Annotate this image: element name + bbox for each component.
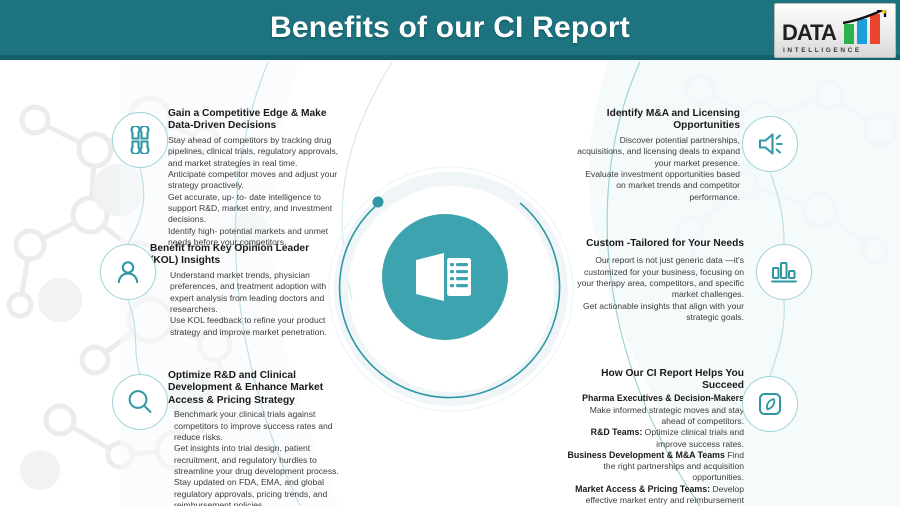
bar-chart-glyph xyxy=(769,259,799,285)
helps-item-label: R&D Teams: xyxy=(591,427,643,437)
infographic-slide: Benefits of our CI Report DATA INTELLIGE… xyxy=(0,0,900,506)
logo-subtitle: INTELLIGENCE xyxy=(783,47,862,54)
helps-item-label: Business Development & M&A Teams xyxy=(567,450,724,460)
magnifier-icon xyxy=(112,374,168,430)
user-icon xyxy=(100,244,156,300)
helps-list: Pharma Executives & Decision-Makers Make… xyxy=(566,393,744,506)
user-glyph xyxy=(114,258,142,286)
helps-item-text: Make informed strategic moves and stay a… xyxy=(590,405,744,426)
clover-grid-glyph xyxy=(126,126,154,154)
block-custom-tailored: Custom -Tailored for Your Needs Our repo… xyxy=(572,238,744,324)
block-competitive-edge: Gain a Competitive Edge & Make Data-Driv… xyxy=(168,108,340,248)
page-title: Benefits of our CI Report xyxy=(0,0,900,55)
block-body: Understand market trends, physician pref… xyxy=(150,270,338,338)
header-bar: Benefits of our CI Report xyxy=(0,0,900,60)
center-graphic xyxy=(336,175,566,405)
speaker-icon xyxy=(742,116,798,172)
block-body: Benchmark your clinical trials against c… xyxy=(168,409,340,506)
bar-chart-icon xyxy=(756,244,812,300)
block-kol-insights: Benefit from Key Opinion Leader (KOL) In… xyxy=(150,243,338,338)
report-booklet-icon xyxy=(414,251,476,303)
helps-list-item: Market Access & Pricing Teams: Develop e… xyxy=(566,484,744,506)
block-body: Discover potential partnerships, acquisi… xyxy=(576,135,740,203)
pen-square-glyph xyxy=(756,390,784,418)
block-helps-you-succeed: How Our CI Report Helps You Succeed Phar… xyxy=(566,368,744,506)
brand-logo: DATA INTELLIGENCE xyxy=(774,3,896,58)
block-title: Optimize R&D and Clinical Development & … xyxy=(168,370,340,407)
clover-grid-icon xyxy=(112,112,168,168)
center-disc xyxy=(382,214,508,340)
block-body: Stay ahead of competitors by tracking dr… xyxy=(168,135,340,248)
helps-list-item: Pharma Executives & Decision-Makers Make… xyxy=(566,393,744,427)
helps-list-item: R&D Teams: Optimize clinical trials and … xyxy=(566,427,744,450)
block-title: Custom -Tailored for Your Needs xyxy=(572,238,744,250)
block-rnd-pricing: Optimize R&D and Clinical Development & … xyxy=(168,370,340,506)
helps-item-label: Pharma Executives & Decision-Makers xyxy=(582,393,744,403)
logo-bars-icon xyxy=(843,10,887,44)
helps-list-item: Business Development & M&A Teams Find th… xyxy=(566,450,744,484)
magnifier-glyph xyxy=(125,387,155,417)
logo-wordmark: DATA xyxy=(782,20,836,46)
block-title: Identify M&A and Licensing Opportunities xyxy=(576,108,740,133)
block-title: How Our CI Report Helps You Succeed xyxy=(566,368,744,392)
helps-item-text: Optimize clinical trials and improve suc… xyxy=(642,427,744,448)
speaker-glyph xyxy=(755,130,785,158)
block-title: Gain a Competitive Edge & Make Data-Driv… xyxy=(168,108,340,133)
helps-item-label: Market Access & Pricing Teams: xyxy=(575,484,710,494)
pen-square-icon xyxy=(742,376,798,432)
header-bottom-strip xyxy=(0,55,900,60)
block-title: Benefit from Key Opinion Leader (KOL) In… xyxy=(150,243,338,268)
block-body: Our report is not just generic data —it'… xyxy=(572,255,744,323)
block-ma-licensing: Identify M&A and Licensing Opportunities… xyxy=(576,108,740,203)
